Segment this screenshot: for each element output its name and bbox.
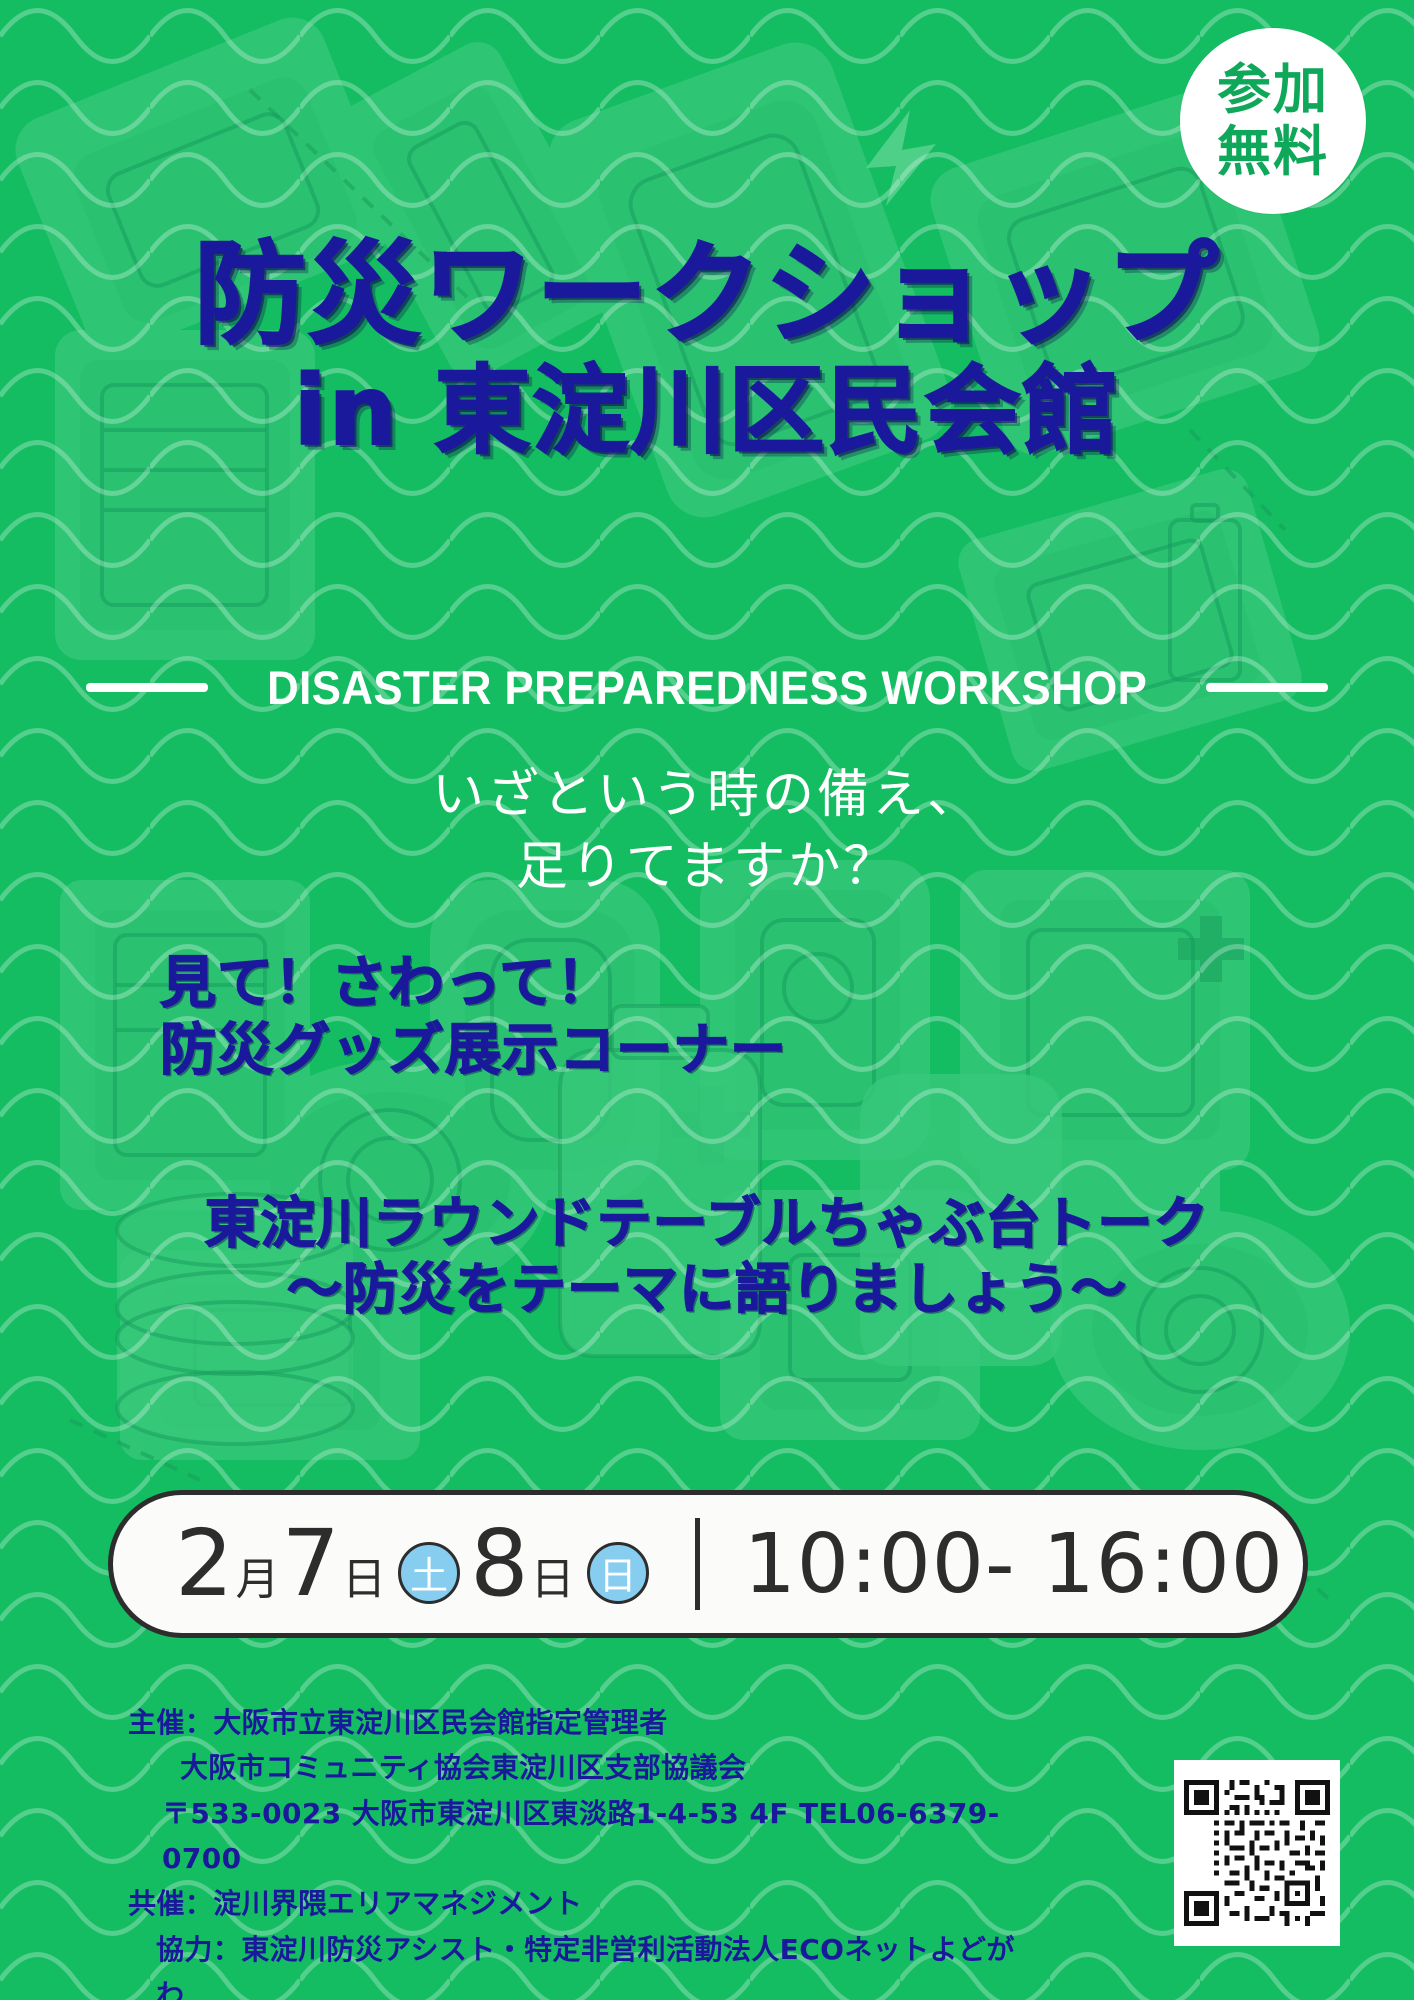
footer-line-1: 主催：大阪市立東淀川区民会館指定管理者 <box>128 1700 1028 1745</box>
schedule-day1-unit: 日 <box>342 1558 386 1608</box>
tagline-line-1: いざという時の備え、 <box>0 760 1414 832</box>
schedule-bar: 2 月 7 日 土 8 日 日 10:00- 16:00 <box>108 1490 1308 1638</box>
schedule-dates: 2 月 7 日 土 8 日 日 <box>113 1520 659 1607</box>
english-subtitle-row: DISASTER PREPAREDNESS WORKSHOP <box>0 660 1414 715</box>
schedule-day1-dow-badge: 土 <box>398 1542 460 1604</box>
badge-line-2: 無料 <box>1217 121 1329 183</box>
free-admission-badge: 参加 無料 <box>1180 28 1366 214</box>
footer-line-2: 大阪市コミュニティ協会東淀川区支部協議会 <box>128 1745 1028 1790</box>
program-exhibit-line-1: 見て！さわって！ <box>160 950 787 1017</box>
schedule-month: 2 <box>175 1520 233 1607</box>
badge-line-1: 参加 <box>1217 59 1329 121</box>
program-roundtable-line-2: 〜防災をテーマに語りましょう〜 <box>0 1256 1414 1322</box>
program-roundtable: 東淀川ラウンドテーブルちゃぶ台トーク 〜防災をテーマに語りましょう〜 <box>0 1190 1414 1322</box>
qr-code[interactable] <box>1174 1760 1340 1946</box>
rule-right-icon <box>1206 683 1328 692</box>
title-line-2: in 東淀川区民会館 <box>0 361 1414 463</box>
footer-line-5: 協力：東淀川防災アシスト・特定非営利活動法人ECOネットよどがわ <box>128 1927 1028 2000</box>
schedule-month-unit: 月 <box>236 1558 280 1608</box>
program-exhibit-line-2: 防災グッズ展示コーナー <box>160 1017 787 1084</box>
title-line-1: 防災ワークショップ <box>0 236 1414 355</box>
program-exhibit: 見て！さわって！ 防災グッズ展示コーナー <box>160 950 787 1084</box>
poster-root: 参加 無料 防災ワークショップ in 東淀川区民会館 DISASTER PREP… <box>0 0 1414 2000</box>
footer-line-3: 〒533-0023 大阪市東淀川区東淡路1-4-53 4F TEL06-6379… <box>128 1791 1028 1882</box>
schedule-time: 10:00- 16:00 <box>744 1517 1284 1612</box>
tagline-line-2: 足りてますか？ <box>0 832 1414 904</box>
poster-title: 防災ワークショップ in 東淀川区民会館 <box>0 236 1414 462</box>
schedule-day2-dow-badge: 日 <box>587 1542 649 1604</box>
schedule-day1: 7 <box>282 1520 340 1607</box>
tagline: いざという時の備え、 足りてますか？ <box>0 760 1414 904</box>
rule-left-icon <box>86 683 208 692</box>
schedule-day2-unit: 日 <box>531 1558 575 1608</box>
schedule-day2: 8 <box>470 1520 528 1607</box>
schedule-divider <box>695 1518 700 1610</box>
footer-line-4: 共催：淀川界隈エリアマネジメント <box>128 1881 1028 1926</box>
program-roundtable-line-1: 東淀川ラウンドテーブルちゃぶ台トーク <box>0 1190 1414 1256</box>
footer-credits: 主催：大阪市立東淀川区民会館指定管理者 大阪市コミュニティ協会東淀川区支部協議会… <box>128 1700 1028 2000</box>
english-subtitle: DISASTER PREPAREDNESS WORKSHOP <box>267 660 1147 715</box>
